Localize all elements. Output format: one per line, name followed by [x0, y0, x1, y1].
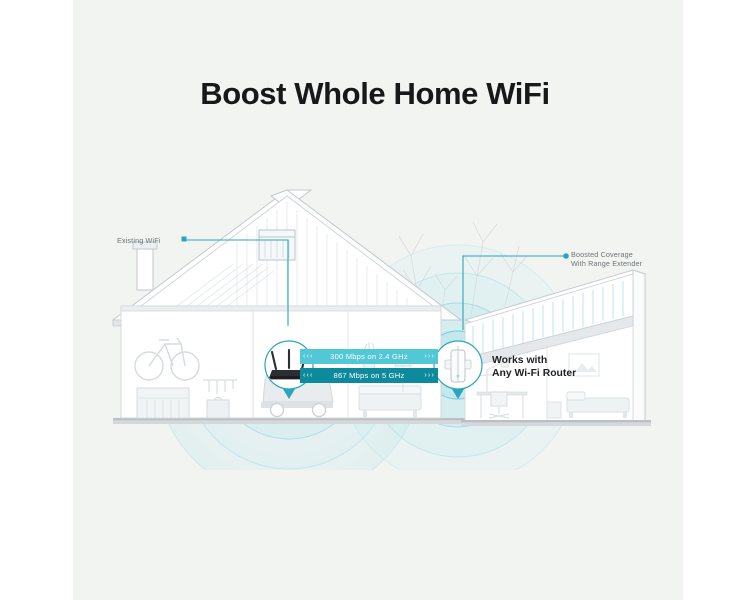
- leader-dot-existing-wifi: [182, 237, 187, 242]
- speed-badge-2-4ghz-label: 300 Mbps on 2.4 GHz: [317, 352, 422, 361]
- house-illustration: [73, 130, 683, 470]
- nightstand: [547, 402, 561, 418]
- screenshot-root: Boost Whole Home WiFi: [0, 0, 750, 600]
- chevrons-left-icon: ‹‹‹: [300, 372, 317, 379]
- chevrons-right-icon: ›››: [421, 353, 438, 360]
- chimney: [133, 242, 157, 290]
- leader-dot-boosted-coverage: [563, 253, 569, 259]
- attic-window: [259, 230, 295, 260]
- chevrons-right-icon: ›››: [421, 372, 438, 379]
- callout-existing-wifi: Existing WiFi: [117, 236, 160, 245]
- speed-badge-5ghz: ‹‹‹ 867 Mbps on 5 GHz ›››: [300, 368, 438, 383]
- compatibility-note: Works with Any Wi-Fi Router: [492, 354, 576, 380]
- speed-badge-5ghz-label: 867 Mbps on 5 GHz: [317, 371, 422, 380]
- toolbox: [207, 398, 229, 419]
- speed-badge-2-4ghz: ‹‹‹ 300 Mbps on 2.4 GHz ›››: [300, 349, 438, 364]
- page-title: Boost Whole Home WiFi: [0, 76, 750, 112]
- chevrons-left-icon: ‹‹‹: [300, 353, 317, 360]
- callout-boosted-coverage: Boosted Coverage With Range Extender: [571, 250, 642, 269]
- storage-shelf: [137, 388, 189, 418]
